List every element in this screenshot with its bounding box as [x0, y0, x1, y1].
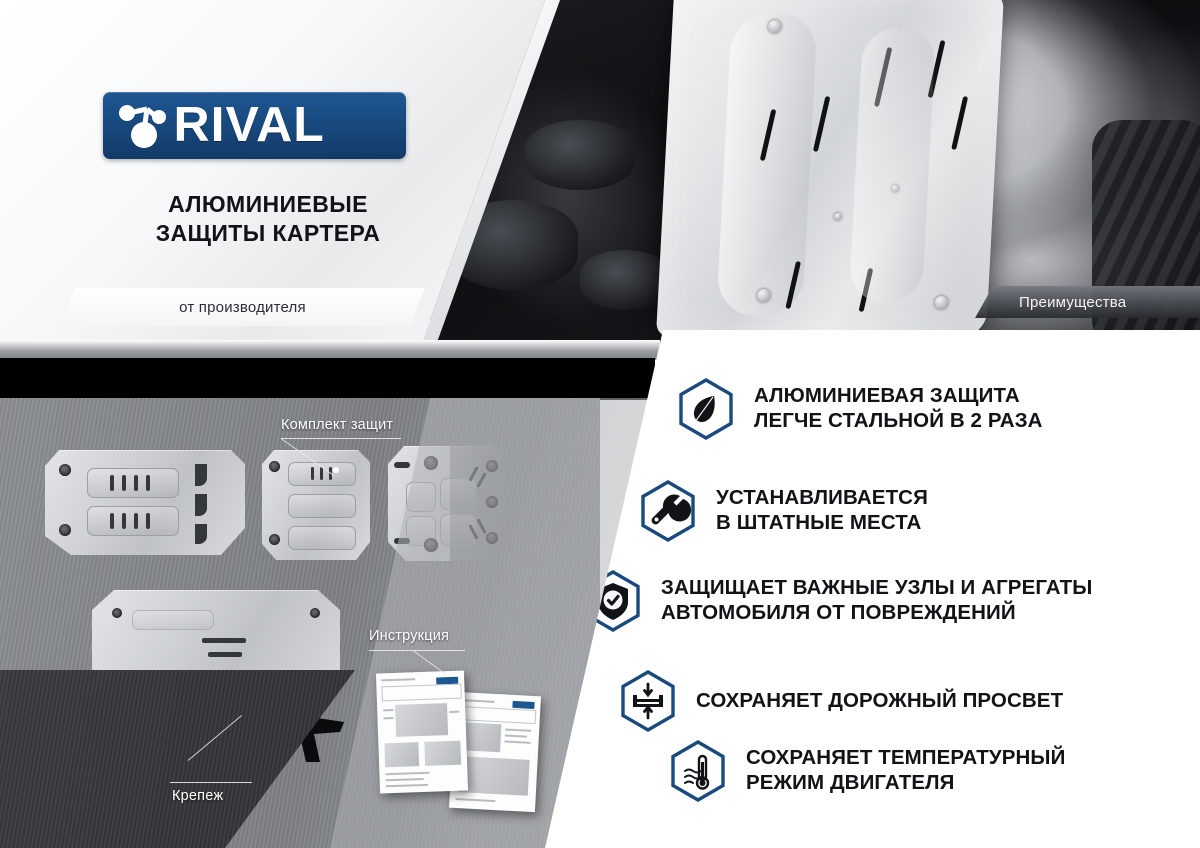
callout-kit-underline — [281, 438, 401, 439]
page-title-line2: ЗАЩИТЫ КАРТЕРА — [103, 219, 433, 248]
page-title-line1: АЛЮМИНИЕВЫЕ — [103, 190, 433, 219]
benefit-text: СОХРАНЯЕТ ДОРОЖНЫЙ ПРОСВЕТ — [696, 689, 1063, 714]
benefit-text: ЗАЩИЩАЕТ ВАЖНЫЕ УЗЛЫ И АГРЕГАТЫ АВТОМОБИ… — [661, 576, 1092, 625]
installed-skid-plate — [656, 0, 1004, 337]
instruction-sheet-front — [376, 671, 468, 794]
callout-instruction-label: Инструкция — [369, 628, 449, 644]
rival-logo: RIVAL — [103, 92, 406, 159]
advantages-label: Преимущества — [1019, 294, 1126, 311]
callout-fasteners-label: Крепеж — [172, 788, 223, 804]
gradient-divider — [0, 340, 660, 360]
axle-part — [525, 120, 635, 190]
advantages-ribbon: Преимущества — [965, 286, 1200, 318]
benefit-line2: АВТОМОБИЛЯ ОТ ПОВРЕЖДЕНИЙ — [661, 601, 1092, 626]
callout-fasteners-underline — [170, 782, 252, 783]
benefit-item-protects-units: ЗАЩИЩАЕТ ВАЖНЫЕ УЗЛЫ И АГРЕГАТЫ АВТОМОБИ… — [585, 570, 1092, 632]
logo-wordmark: RIVAL — [174, 101, 325, 150]
benefit-line2: РЕЖИМ ДВИГАТЕЛЯ — [746, 771, 1065, 796]
callout-kit-dot — [333, 467, 339, 473]
skid-plate-wide — [45, 450, 245, 555]
benefit-item-temperature: СОХРАНЯЕТ ТЕМПЕРАТУРНЫЙ РЕЖИМ ДВИГАТЕЛЯ — [670, 740, 1065, 802]
control-arm-part — [580, 250, 670, 310]
ground-clearance-icon — [620, 670, 676, 732]
benefit-line1: СОХРАНЯЕТ ДОРОЖНЫЙ ПРОСВЕТ — [696, 689, 1063, 714]
benefit-line1: УСТАНАВЛИВАЕТСЯ — [716, 486, 928, 511]
skid-plate-square — [262, 450, 370, 560]
benefit-item-factory-mounts: УСТАНАВЛИВАЕТСЯ В ШТАТНЫЕ МЕСТА — [640, 480, 928, 542]
benefit-line1: АЛЮМИНИЕВАЯ ЗАЩИТА — [754, 384, 1043, 409]
benefit-line1: СОХРАНЯЕТ ТЕМПЕРАТУРНЫЙ — [746, 746, 1065, 771]
subtitle-bar: от производителя — [60, 288, 425, 326]
benefit-line2: ЛЕГЧЕ СТАЛЬНОЙ В 2 РАЗА — [754, 409, 1043, 434]
benefit-item-aluminium-light: АЛЮМИНИЕВАЯ ЗАЩИТА ЛЕГЧЕ СТАЛЬНОЙ В 2 РА… — [678, 378, 1043, 440]
benefit-text: АЛЮМИНИЕВАЯ ЗАЩИТА ЛЕГЧЕ СТАЛЬНОЙ В 2 РА… — [754, 384, 1043, 433]
benefit-text: УСТАНАВЛИВАЕТСЯ В ШТАТНЫЕ МЕСТА — [716, 486, 928, 535]
callout-instruction-underline — [369, 650, 465, 651]
benefit-line1: ЗАЩИЩАЕТ ВАЖНЫЕ УЗЛЫ И АГРЕГАТЫ — [661, 576, 1092, 601]
benefit-line2: В ШТАТНЫЕ МЕСТА — [716, 511, 928, 536]
infographic-canvas: RIVAL АЛЮМИНИЕВЫЕ ЗАЩИТЫ КАРТЕРА от прои… — [0, 0, 1200, 848]
wrench-icon — [640, 480, 696, 542]
molecule-icon — [113, 97, 175, 155]
leaf-icon — [678, 378, 734, 440]
black-divider — [0, 358, 655, 400]
page-subtitle: от производителя — [179, 299, 306, 316]
benefit-text: СОХРАНЯЕТ ТЕМПЕРАТУРНЫЙ РЕЖИМ ДВИГАТЕЛЯ — [746, 746, 1065, 795]
callout-kit-label: Комплект защит — [281, 417, 393, 433]
benefit-item-ground-clearance: СОХРАНЯЕТ ДОРОЖНЫЙ ПРОСВЕТ — [620, 670, 1063, 732]
thermometer-icon — [670, 740, 726, 802]
page-title: АЛЮМИНИЕВЫЕ ЗАЩИТЫ КАРТЕРА — [103, 190, 433, 248]
